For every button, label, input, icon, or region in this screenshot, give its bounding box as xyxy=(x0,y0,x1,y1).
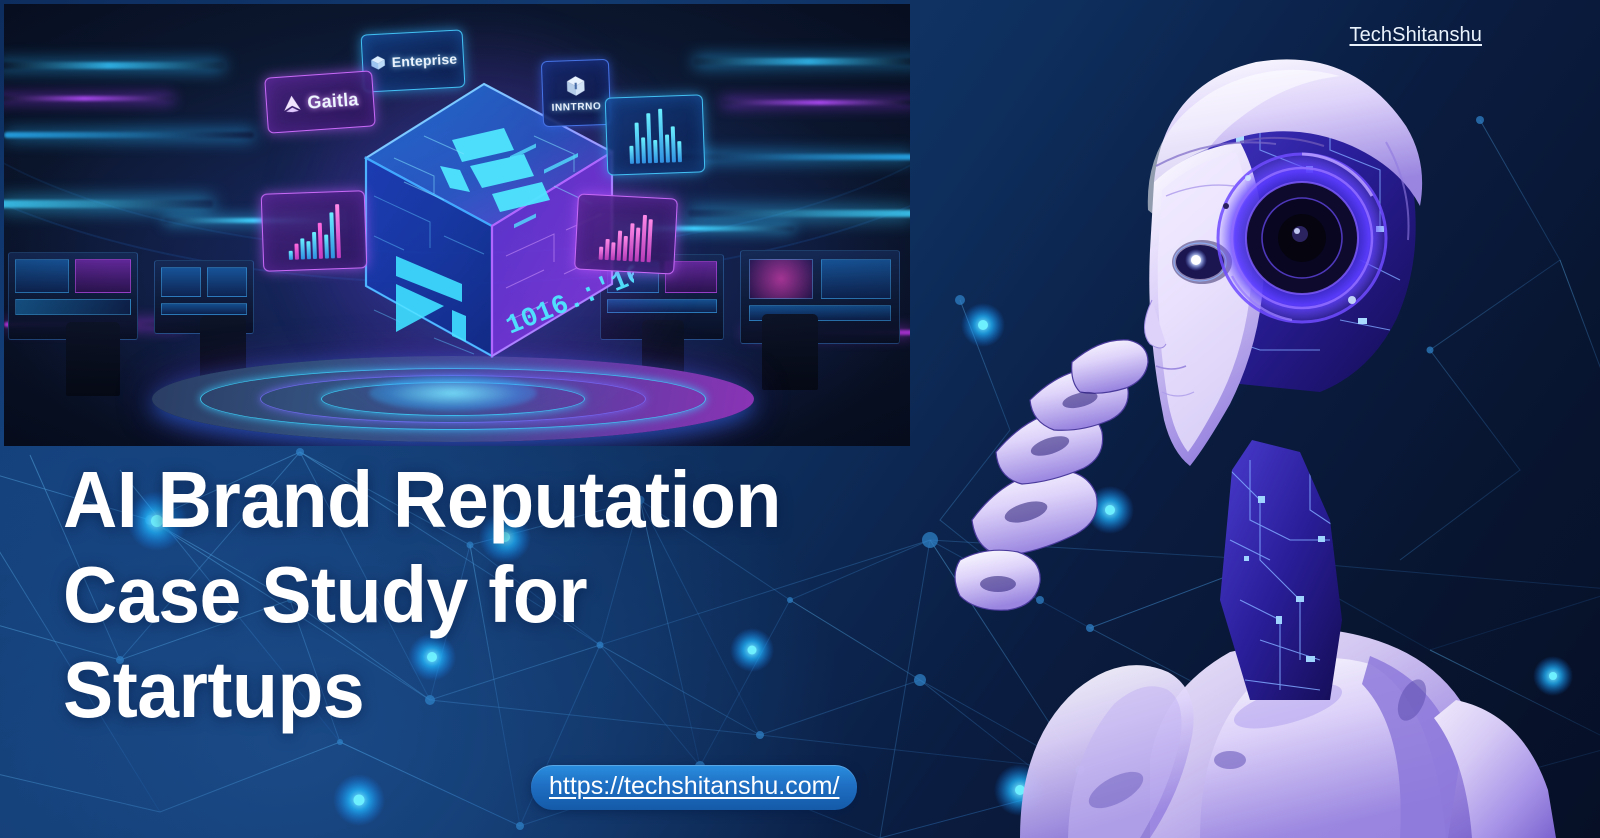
neon-strip xyxy=(694,58,910,65)
holo-chart-panel-right-bottom xyxy=(574,193,678,274)
holo-chart-panel-left xyxy=(261,190,368,272)
poster-canvas: 1016.:'16 Enteprise Gaitla xyxy=(0,0,1600,838)
title-line-3: Startups xyxy=(63,642,853,737)
holo-panel-inntrno: INNTRNO xyxy=(541,59,611,127)
holo-panel-gaitla: Gaitla xyxy=(264,70,376,133)
chair xyxy=(66,322,120,396)
mini-bar-chart xyxy=(628,105,682,164)
neon-strip xyxy=(4,132,254,138)
title-line-1: AI Brand Reputation xyxy=(63,452,853,547)
neon-strip xyxy=(722,100,910,105)
box-3d-logo-icon xyxy=(562,73,589,100)
triangle-arrow-logo-icon xyxy=(281,92,304,115)
neon-strip xyxy=(4,200,213,208)
holo-panel-label: INNTRNO xyxy=(551,101,601,114)
hero-image: 1016.:'16 Enteprise Gaitla xyxy=(4,4,910,446)
mini-bar-chart xyxy=(287,201,341,260)
holo-chart-panel-right-top xyxy=(605,94,706,175)
mini-bar-chart xyxy=(599,205,654,263)
holo-panel-label: Enteprise xyxy=(391,51,457,70)
neon-strip xyxy=(4,96,174,101)
page-title: AI Brand Reputation Case Study for Start… xyxy=(63,452,903,737)
holo-panel-enteprise: Enteprise xyxy=(361,29,466,92)
robot-illustration xyxy=(900,0,1600,838)
chair xyxy=(762,314,818,390)
title-line-2: Case Study for xyxy=(63,547,853,642)
website-url-badge[interactable]: https://techshitanshu.com/ xyxy=(531,765,857,810)
neon-strip xyxy=(4,62,224,69)
holo-panel-label: Gaitla xyxy=(307,89,360,114)
neon-strip xyxy=(688,210,910,217)
cube-logo-icon xyxy=(368,53,387,72)
brand-wordmark[interactable]: TechShitanshu xyxy=(1349,24,1482,47)
